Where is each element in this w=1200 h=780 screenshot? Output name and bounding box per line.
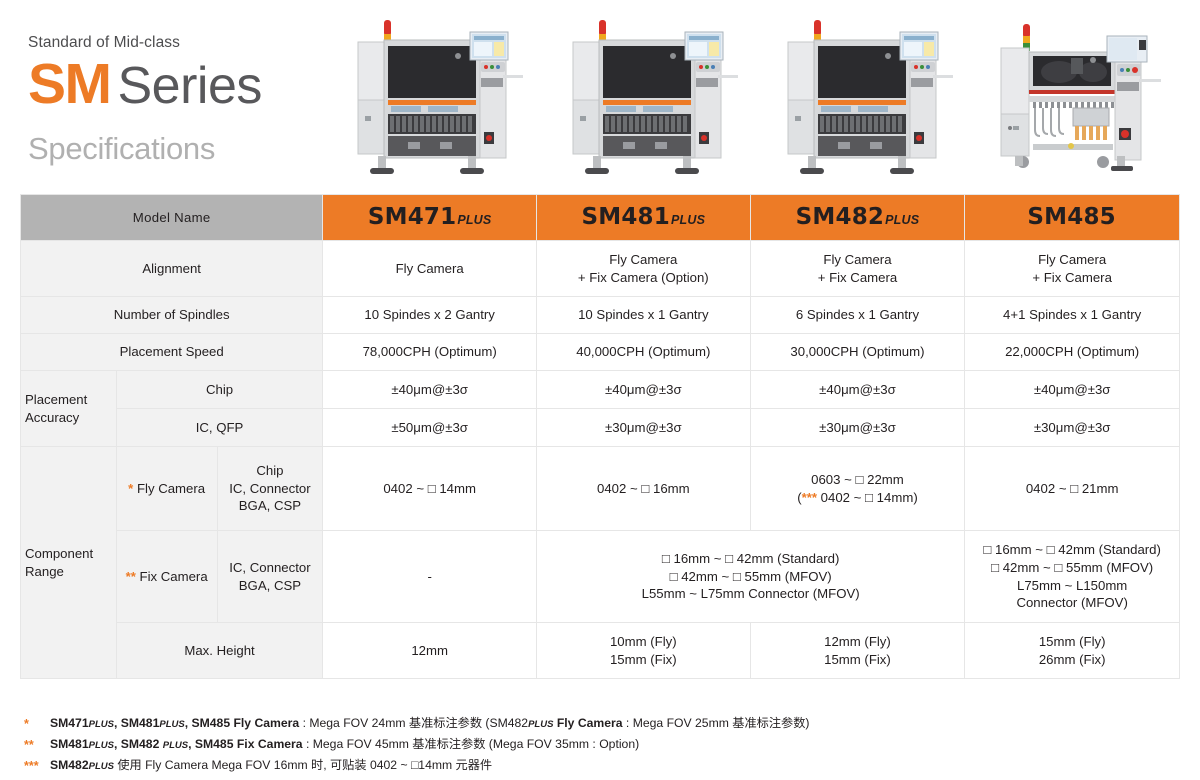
model-suffix-text: PLUS bbox=[457, 213, 491, 227]
footnote-mark-double-asterisk: ** bbox=[126, 569, 136, 584]
cell-max-height-sm481: 10mm (Fly) 15mm (Fix) bbox=[536, 623, 750, 679]
cell-spindles-sm481: 10 Spindes x 1 Gantry bbox=[536, 297, 750, 334]
table-row-accuracy-chip: Placement Accuracy Chip ±40μm@±3σ ±40μm@… bbox=[21, 371, 1180, 409]
model-name-text: SM471 bbox=[368, 204, 456, 230]
header-model-sm482plus[interactable]: SM482PLUS bbox=[750, 195, 965, 241]
fix-camera-label: Fix Camera bbox=[140, 569, 208, 584]
cell-accuracy-chip-sm482: ±40μm@±3σ bbox=[750, 371, 965, 409]
cell-speed-sm485: 22,000CPH (Optimum) bbox=[965, 334, 1180, 371]
header-model-sm471plus[interactable]: SM471PLUS bbox=[323, 195, 537, 241]
row-label-placement-accuracy: Placement Accuracy bbox=[21, 371, 117, 447]
brand-block: Standard of Mid-class SMSeries Specifica… bbox=[28, 34, 328, 167]
cell-spindles-sm471: 10 Spindes x 2 Gantry bbox=[323, 297, 537, 334]
footnote-marker: * bbox=[24, 714, 50, 735]
footnote-row-2: ** SM481PLUS, SM482 PLUS, SM485 Fix Came… bbox=[24, 735, 1184, 756]
row-sublabel-fly-camera-parts: Chip IC, Connector BGA, CSP bbox=[217, 447, 323, 531]
cell-accuracy-icqfp-sm471: ±50μm@±3σ bbox=[323, 409, 537, 447]
cell-fix-camera-sm485: □ 16mm ~ □ 42mm (Standard) □ 42mm ~ □ 55… bbox=[965, 531, 1180, 623]
cell-fly-camera-sm482: 0603 ~ □ 22mm (*** 0402 ~ □ 14mm) bbox=[750, 447, 965, 531]
brand-kicker: Standard of Mid-class bbox=[28, 34, 328, 52]
row-sublabel-chip: Chip bbox=[116, 371, 323, 409]
model-name-text: SM482 bbox=[796, 204, 884, 230]
sm485-machine-photo bbox=[975, 4, 1190, 180]
table-row-spindles: Number of Spindles 10 Spindes x 2 Gantry… bbox=[21, 297, 1180, 334]
row-sublabel-ic-qfp: IC, QFP bbox=[116, 409, 323, 447]
cell-speed-sm471: 78,000CPH (Optimum) bbox=[323, 334, 537, 371]
brand-sm-text: SM bbox=[28, 52, 111, 116]
cell-speed-sm481: 40,000CPH (Optimum) bbox=[536, 334, 750, 371]
header-model-name: Model Name bbox=[21, 195, 323, 241]
cell-accuracy-icqfp-sm485: ±30μm@±3σ bbox=[965, 409, 1180, 447]
table-row-fly-camera: Component Range * Fly Camera Chip IC, Co… bbox=[21, 447, 1180, 531]
brand-series-text: Series bbox=[118, 57, 262, 115]
cell-max-height-sm482: 12mm (Fly) 15mm (Fix) bbox=[750, 623, 965, 679]
specification-sheet: Standard of Mid-class SMSeries Specifica… bbox=[0, 0, 1200, 780]
footnote-marker: *** bbox=[24, 756, 50, 777]
machine-photo-strip bbox=[330, 4, 1190, 180]
row-sublabel-fix-camera: ** Fix Camera bbox=[116, 531, 217, 623]
cell-alignment-sm482: Fly Camera + Fix Camera bbox=[750, 241, 965, 297]
cell-alignment-sm471: Fly Camera bbox=[323, 241, 537, 297]
cell-alignment-sm481: Fly Camera + Fix Camera (Option) bbox=[536, 241, 750, 297]
cell-accuracy-icqfp-sm482: ±30μm@±3σ bbox=[750, 409, 965, 447]
cell-fly-camera-sm481: 0402 ~ □ 16mm bbox=[536, 447, 750, 531]
cell-accuracy-icqfp-sm481: ±30μm@±3σ bbox=[536, 409, 750, 447]
table-row-max-height: Max. Height 12mm 10mm (Fly) 15mm (Fix) 1… bbox=[21, 623, 1180, 679]
header-model-sm485[interactable]: SM485 bbox=[965, 195, 1180, 241]
row-label-spindles: Number of Spindles bbox=[21, 297, 323, 334]
row-label-component-range: Component Range bbox=[21, 447, 117, 679]
sm471-plus-machine-photo bbox=[330, 4, 545, 180]
fly-camera-label: Fly Camera bbox=[137, 481, 205, 496]
row-label-alignment: Alignment bbox=[21, 241, 323, 297]
brand-title: SMSeries bbox=[28, 56, 328, 113]
footnote-text-2: SM481PLUS, SM482 PLUS, SM485 Fix Camera … bbox=[50, 735, 1184, 754]
footnote-text-3: SM482PLUS 使用 Fly Camera Mega FOV 16mm 时,… bbox=[50, 756, 1184, 775]
cell-alignment-sm485: Fly Camera + Fix Camera bbox=[965, 241, 1180, 297]
footnote-row-3: *** SM482PLUS 使用 Fly Camera Mega FOV 16m… bbox=[24, 756, 1184, 777]
table-row-fix-camera: ** Fix Camera IC, Connector BGA, CSP - □… bbox=[21, 531, 1180, 623]
cell-accuracy-chip-sm481: ±40μm@±3σ bbox=[536, 371, 750, 409]
cell-fly-camera-sm471: 0402 ~ □ 14mm bbox=[323, 447, 537, 531]
table-header-row: Model Name SM471PLUS SM481PLUS SM482PLUS… bbox=[21, 195, 1180, 241]
specifications-table: Model Name SM471PLUS SM481PLUS SM482PLUS… bbox=[20, 194, 1180, 679]
cell-speed-sm482: 30,000CPH (Optimum) bbox=[750, 334, 965, 371]
footnote-row-1: * SM471PLUS, SM481PLUS, SM485 Fly Camera… bbox=[24, 714, 1184, 735]
footnotes-block: * SM471PLUS, SM481PLUS, SM485 Fly Camera… bbox=[24, 714, 1184, 776]
footnote-mark-triple-asterisk: *** bbox=[802, 490, 817, 505]
row-sublabel-max-height: Max. Height bbox=[116, 623, 323, 679]
model-suffix-text: PLUS bbox=[671, 213, 705, 227]
fly-camera-sm482-line1: 0603 ~ □ 22mm bbox=[811, 472, 904, 487]
header-model-sm481plus[interactable]: SM481PLUS bbox=[536, 195, 750, 241]
model-suffix-text: PLUS bbox=[885, 213, 919, 227]
row-sublabel-fix-camera-parts: IC, Connector BGA, CSP bbox=[217, 531, 323, 623]
sm482-plus-machine-photo bbox=[760, 4, 975, 180]
footnote-marker: ** bbox=[24, 735, 50, 756]
page-title: Specifications bbox=[28, 131, 328, 167]
cell-max-height-sm485: 15mm (Fly) 26mm (Fix) bbox=[965, 623, 1180, 679]
row-sublabel-fly-camera: * Fly Camera bbox=[116, 447, 217, 531]
cell-max-height-sm471: 12mm bbox=[323, 623, 537, 679]
cell-spindles-sm482: 6 Spindes x 1 Gantry bbox=[750, 297, 965, 334]
model-name-text: SM485 bbox=[1027, 204, 1115, 230]
footnote-mark-single-asterisk: * bbox=[128, 481, 133, 496]
row-label-placement-speed: Placement Speed bbox=[21, 334, 323, 371]
cell-fly-camera-sm485: 0402 ~ □ 21mm bbox=[965, 447, 1180, 531]
footnote-text-1: SM471PLUS, SM481PLUS, SM485 Fly Camera :… bbox=[50, 714, 1184, 733]
table-row-placement-speed: Placement Speed 78,000CPH (Optimum) 40,0… bbox=[21, 334, 1180, 371]
cell-spindles-sm485: 4+1 Spindes x 1 Gantry bbox=[965, 297, 1180, 334]
cell-fix-camera-sm481-sm482: □ 16mm ~ □ 42mm (Standard) □ 42mm ~ □ 55… bbox=[536, 531, 964, 623]
table-row-alignment: Alignment Fly Camera Fly Camera + Fix Ca… bbox=[21, 241, 1180, 297]
cell-fix-camera-sm471: - bbox=[323, 531, 537, 623]
cell-accuracy-chip-sm471: ±40μm@±3σ bbox=[323, 371, 537, 409]
fly-camera-sm482-line2-post: 0402 ~ □ 14mm) bbox=[817, 490, 918, 505]
sm481-plus-machine-photo bbox=[545, 4, 760, 180]
model-name-text: SM481 bbox=[582, 204, 670, 230]
cell-accuracy-chip-sm485: ±40μm@±3σ bbox=[965, 371, 1180, 409]
table-row-accuracy-icqfp: IC, QFP ±50μm@±3σ ±30μm@±3σ ±30μm@±3σ ±3… bbox=[21, 409, 1180, 447]
